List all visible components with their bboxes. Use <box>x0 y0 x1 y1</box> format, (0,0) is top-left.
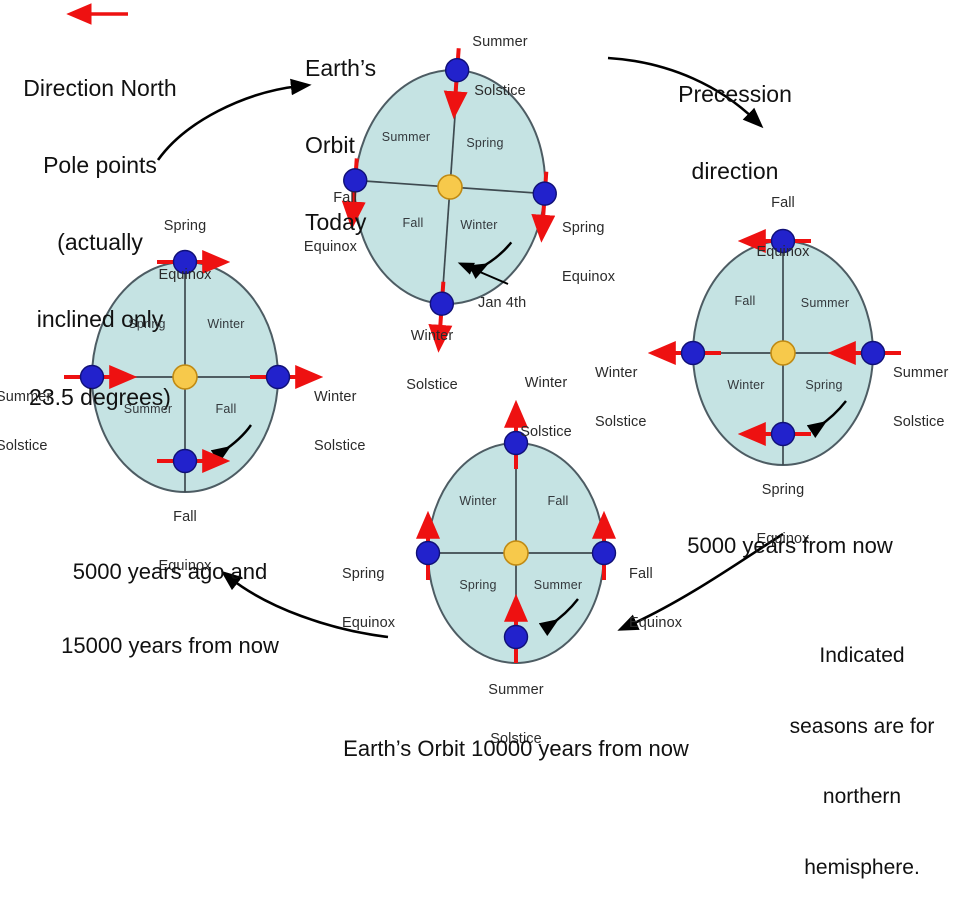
orbit-future10k-caption: Earth’s Orbit 10000 years from now <box>296 688 736 787</box>
orbit-ago-label-right: Winter Solstice <box>314 357 404 471</box>
orbit-ago-quadrant-bottom-left: Summer <box>113 402 183 416</box>
orbit-today-quadrant-top-right: Spring <box>450 136 520 150</box>
orbit-future10k-label-top: Winter Solstice <box>491 343 601 457</box>
direction-north-line-2: Pole points <box>0 153 205 179</box>
orbit-future10k-quadrant-bottom-left: Spring <box>448 578 508 592</box>
label-line-2: Solstice <box>0 438 68 454</box>
orbit-future10k-label-left: Spring Equinox <box>342 534 414 648</box>
orbit-today-label-top: Summer Solstice <box>445 2 555 116</box>
label-line-1: Winter <box>595 365 667 381</box>
sun <box>771 341 795 365</box>
orbit-ago-quadrant-top-right: Winter <box>195 317 257 331</box>
label-line-1: Winter <box>314 389 404 405</box>
label-line-2: Equinox <box>130 267 240 283</box>
hemisphere-line-3: northern <box>762 785 960 809</box>
label-line-1: Fall <box>728 195 838 211</box>
caption-line-1: Earth’s Orbit 10000 years from now <box>296 737 736 762</box>
orbit-today-quadrant-bottom-left: Fall <box>383 216 443 230</box>
label-line-1: Winter <box>491 375 601 391</box>
orbit-future5k-label-top: Fall Equinox <box>728 163 838 277</box>
hemisphere-line-4: hemisphere. <box>762 856 960 880</box>
label-line-2: Solstice <box>314 438 404 454</box>
direction-north-line-1: Direction North <box>0 76 205 102</box>
orbit-today-quadrant-bottom-right: Winter <box>444 218 514 232</box>
orbit-ago-label-top: Spring Equinox <box>130 186 240 300</box>
label-line-2: Solstice <box>893 414 960 430</box>
orbit-today-label-right: Spring Equinox <box>562 188 662 302</box>
label-line-1: Summer <box>445 34 555 50</box>
label-line-1: Summer <box>893 365 960 381</box>
label-line-1: Winter <box>387 328 477 344</box>
sun <box>437 174 463 200</box>
label-line-2: Solstice <box>445 83 555 99</box>
label-line-1: Summer <box>0 389 68 405</box>
orbit-today-quadrant-top-left: Summer <box>371 130 441 144</box>
label-line-1: Spring <box>342 566 414 582</box>
label-line-1: Fall <box>629 566 709 582</box>
caption-line-2: 15000 years from now <box>10 634 330 659</box>
orbit-ago-quadrant-top-left: Spring <box>117 317 177 331</box>
orbit-future5k-quadrant-bottom-left: Winter <box>715 378 777 392</box>
orbit-today-label-left: Fall Equinox <box>295 158 357 272</box>
hemisphere-line-1: Indicated <box>762 644 960 668</box>
orbit-future5k-quadrant-bottom-right: Spring <box>794 378 854 392</box>
hemisphere-note: Indicated seasons are for northern hemis… <box>762 597 960 903</box>
orbit-future5k-quadrant-top-left: Fall <box>720 294 770 308</box>
label-line-2: Equinox <box>728 244 838 260</box>
label-line-2: Equinox <box>342 615 414 631</box>
orbit-ago-quadrant-bottom-right: Fall <box>201 402 251 416</box>
orbit-future10k-quadrant-top-right: Fall <box>533 494 583 508</box>
label-line-2: Equinox <box>295 239 357 255</box>
orbit-today-title-line-1: Earth’s <box>305 56 415 82</box>
orbit-future5k-quadrant-top-right: Summer <box>790 296 860 310</box>
label-line-1: Fall <box>295 190 357 206</box>
orbit-future10k-label-right: Fall Equinox <box>629 534 709 648</box>
hemisphere-line-2: seasons are for <box>762 715 960 739</box>
label-line-2: Solstice <box>595 414 667 430</box>
jan4th-label: Jan 4th <box>478 295 558 311</box>
label-line-2: Equinox <box>562 269 662 285</box>
label-line-2: Equinox <box>629 615 709 631</box>
label-line-1: Spring <box>130 218 240 234</box>
diagram-stage: Direction North Pole points (actually in… <box>0 0 960 720</box>
sun <box>504 541 528 565</box>
orbit-future10k-quadrant-top-left: Winter <box>447 494 509 508</box>
caption-line-1: 5000 years ago and <box>10 560 330 585</box>
label-line-2: Solstice <box>491 424 601 440</box>
label-line-1: Spring <box>562 220 662 236</box>
orbit-future5k-label-left: Winter Solstice <box>595 333 667 447</box>
orbit-future5k-label-right: Summer Solstice <box>893 333 960 447</box>
orbit-ago-caption: 5000 years ago and 15000 years from now <box>10 511 330 683</box>
orbit-ago-label-left: Summer Solstice <box>0 357 68 471</box>
precession-line-1: Precession <box>620 82 850 108</box>
orbit-future10k-quadrant-bottom-right: Summer <box>523 578 593 592</box>
